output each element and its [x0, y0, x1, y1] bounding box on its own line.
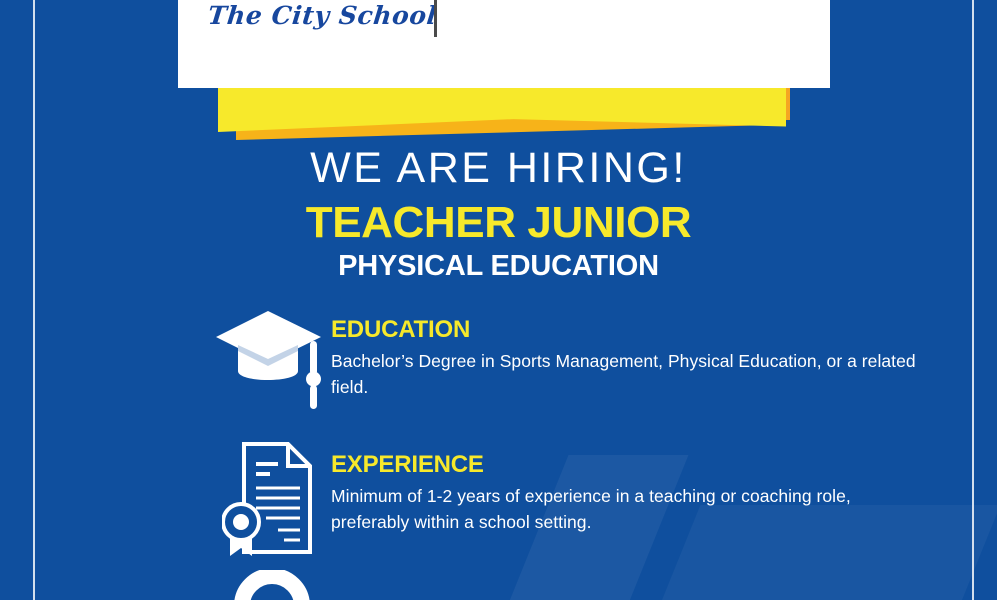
- school-logo-text: The City School: [206, 1, 438, 30]
- graduation-cap-icon: [213, 305, 331, 409]
- role-title: TEACHER JUNIOR: [0, 200, 997, 246]
- school-logo: The City School: [208, 0, 437, 38]
- requirement-title: EDUCATION: [331, 317, 931, 343]
- magnifier-icon: [213, 570, 331, 600]
- job-poster: The City School WE ARE HIRING! TEACHER J…: [0, 0, 997, 600]
- requirement-row-experience: EXPERIENCE Minimum of 1-2 years of exper…: [213, 440, 931, 558]
- headline-block: WE ARE HIRING! TEACHER JUNIOR PHYSICAL E…: [0, 146, 997, 282]
- certificate-icon: [213, 440, 331, 558]
- role-subtitle: PHYSICAL EDUCATION: [0, 251, 997, 281]
- requirement-body-experience: EXPERIENCE Minimum of 1-2 years of exper…: [331, 440, 931, 535]
- requirement-description: Bachelor’s Degree in Sports Management, …: [331, 349, 931, 400]
- requirement-title: EXPERIENCE: [331, 452, 931, 478]
- requirement-description: Minimum of 1-2 years of experience in a …: [331, 484, 931, 535]
- right-border-rule: [972, 0, 974, 600]
- left-border-rule: [33, 0, 35, 600]
- requirement-body-education: EDUCATION Bachelor’s Degree in Sports Ma…: [331, 305, 931, 400]
- requirement-row-education: EDUCATION Bachelor’s Degree in Sports Ma…: [213, 305, 931, 409]
- hiring-label: WE ARE HIRING!: [0, 146, 997, 191]
- requirement-row-partial: [213, 570, 331, 600]
- logo-divider-line: [434, 0, 437, 37]
- header-card: The City School: [178, 0, 830, 88]
